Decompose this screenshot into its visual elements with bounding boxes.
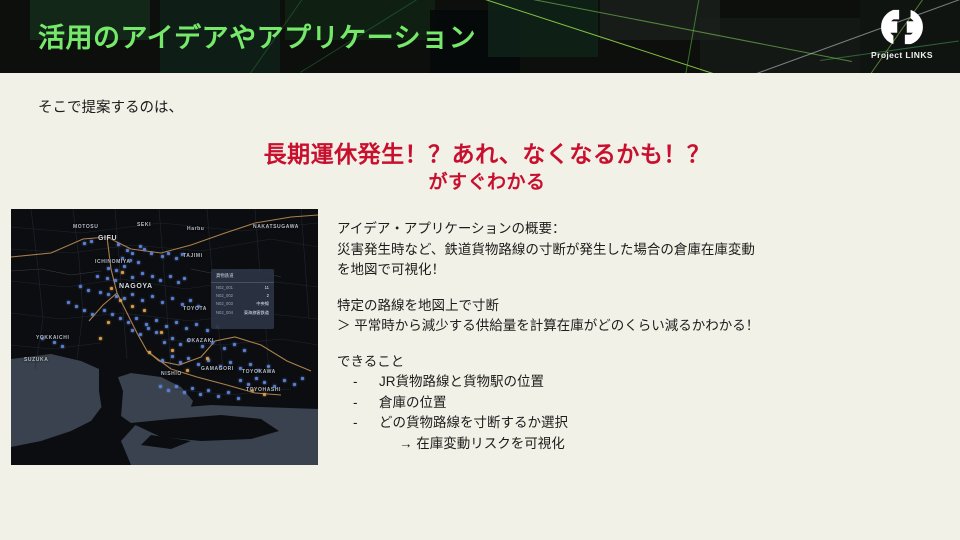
capability-text: どの貨物路線を寸断するか選択 — [379, 413, 568, 434]
map-warehouse-marker[interactable] — [139, 245, 142, 248]
map-tooltip-key: N02_001 — [216, 285, 233, 290]
map-city-label: NISHIO — [161, 371, 182, 377]
map-warehouse-marker[interactable] — [183, 391, 186, 394]
map-warehouse-marker[interactable] — [137, 261, 140, 264]
map-tooltip-row: N02_00111 — [211, 283, 274, 291]
map-warehouse-marker[interactable] — [177, 281, 180, 284]
map-city-label: MOTOSU — [73, 224, 98, 230]
capability-item: -どの貨物路線を寸断するか選択 — [337, 413, 937, 434]
map-warehouse-marker[interactable] — [53, 341, 56, 344]
map-warehouse-marker[interactable] — [169, 275, 172, 278]
map-city-label: TOYOTA — [183, 306, 207, 312]
map-freight-station-marker[interactable] — [99, 337, 102, 340]
map-city-label: TAJIMI — [183, 253, 203, 259]
map-warehouse-marker[interactable] — [90, 240, 93, 243]
map-city-label: OKAZAKI — [187, 338, 214, 344]
logo: Project LINKS — [860, 6, 944, 70]
map-warehouse-marker[interactable] — [247, 383, 250, 386]
map-warehouse-marker[interactable] — [119, 317, 122, 320]
map-warehouse-marker[interactable] — [123, 265, 126, 268]
map-warehouse-marker[interactable] — [249, 363, 252, 366]
map-freight-station-marker[interactable] — [263, 393, 266, 396]
map-freight-station-marker[interactable] — [119, 299, 122, 302]
map-warehouse-marker[interactable] — [135, 317, 138, 320]
map-warehouse-marker[interactable] — [131, 329, 134, 332]
header-rect-7 — [700, 18, 860, 73]
map-freight-station-marker[interactable] — [148, 351, 151, 354]
map-warehouse-marker[interactable] — [179, 361, 182, 364]
map-warehouse-marker[interactable] — [111, 313, 114, 316]
map-warehouse-marker[interactable] — [91, 313, 94, 316]
red-heading-line-1: 長期運休発生！？あれ、なくなるかも！？ — [0, 139, 960, 170]
overview-line-2: を地図で可視化！ — [337, 260, 937, 281]
map-city-label: NAKATSUGAWA — [253, 224, 299, 230]
map-tooltip-value: 2 — [267, 293, 269, 298]
map-tooltip-title: 貨物鉄道 — [211, 269, 274, 283]
map-warehouse-marker[interactable] — [227, 391, 230, 394]
bullet-dash: - — [353, 393, 379, 414]
map-warehouse-marker[interactable] — [107, 267, 110, 270]
map-warehouse-marker[interactable] — [131, 252, 134, 255]
map-tooltip-key: N02_002 — [216, 293, 233, 298]
map-warehouse-marker[interactable] — [61, 345, 64, 348]
map-city-label: Harbu — [187, 226, 204, 232]
map-warehouse-marker[interactable] — [301, 377, 304, 380]
map-warehouse-marker[interactable] — [83, 309, 86, 312]
map-city-label: GIFU — [98, 235, 117, 242]
capability-text: JR貨物路線と貨物駅の位置 — [379, 372, 544, 393]
map-tooltip-value: 中央線 — [256, 301, 269, 307]
map-tooltip-value: 11 — [265, 285, 269, 290]
map-warehouse-marker[interactable] — [115, 269, 118, 272]
map-city-label: TOYOKAWA — [242, 369, 276, 375]
map-city-label: NAGOYA — [119, 283, 153, 290]
map-warehouse-marker[interactable] — [103, 309, 106, 312]
page-title: 活用のアイデアやアプリケーション — [38, 16, 476, 55]
map-warehouse-marker[interactable] — [141, 299, 144, 302]
map-warehouse-marker[interactable] — [206, 329, 209, 332]
map-warehouse-marker[interactable] — [159, 279, 162, 282]
overview-label: アイデア・アプリケーションの概要： — [337, 219, 937, 240]
map-freight-station-marker[interactable] — [131, 305, 134, 308]
map-tooltip-panel[interactable]: 貨物鉄道 N02_00111N02_0022N02_003中央線N02_004東… — [211, 269, 274, 329]
capabilities-list: -JR貨物路線と貨物駅の位置-倉庫の位置-どの貨物路線を寸断するか選択 — [337, 372, 937, 434]
map-warehouse-marker[interactable] — [107, 293, 110, 296]
header-rect-6 — [600, 0, 720, 40]
slide-header: 活用のアイデアやアプリケーション Project LINKS — [0, 0, 960, 73]
map-warehouse-marker[interactable] — [199, 393, 202, 396]
map-warehouse-marker[interactable] — [99, 291, 102, 294]
text-gap-2 — [337, 337, 937, 352]
project-links-logo-icon — [879, 6, 925, 48]
map-city-label: ICHINOMIYA — [95, 259, 131, 265]
map-warehouse-marker[interactable] — [163, 341, 166, 344]
map-warehouse-marker[interactable] — [106, 277, 109, 280]
map-warehouse-marker[interactable] — [127, 321, 130, 324]
logo-text: Project LINKS — [860, 50, 944, 60]
map-warehouse-marker[interactable] — [167, 389, 170, 392]
map-warehouse-marker[interactable] — [123, 297, 126, 300]
feature-line-2: ＞ 平常時から減少する供給量を計算在庫がどのくらい減るかわかる！ — [337, 316, 937, 337]
text-gap-1 — [337, 281, 937, 296]
map-warehouse-marker[interactable] — [223, 347, 226, 350]
map-warehouse-marker[interactable] — [161, 301, 164, 304]
map-freight-station-marker[interactable] — [160, 331, 163, 334]
map-freight-station-marker[interactable] — [121, 271, 124, 274]
map-warehouse-marker[interactable] — [243, 349, 246, 352]
header-line-2 — [528, 0, 852, 62]
map-warehouse-marker[interactable] — [197, 363, 200, 366]
map-tooltip-row: N02_0022 — [211, 291, 274, 299]
map-warehouse-marker[interactable] — [165, 325, 168, 328]
map-warehouse-marker[interactable] — [267, 365, 270, 368]
map-freight-station-marker[interactable] — [110, 287, 113, 290]
map-warehouse-marker[interactable] — [229, 361, 232, 364]
map-warehouse-marker[interactable] — [115, 295, 118, 298]
body-text-block: アイデア・アプリケーションの概要： 災害発生時など、鉄道貨物路線の寸断が発生した… — [337, 219, 937, 454]
map-warehouse-marker[interactable] — [161, 255, 164, 258]
capability-text: 倉庫の位置 — [379, 393, 447, 414]
map-freight-station-marker[interactable] — [107, 321, 110, 324]
map-warehouse-marker[interactable] — [175, 257, 178, 260]
map-warehouse-marker[interactable] — [183, 277, 186, 280]
map-freight-station-marker[interactable] — [171, 349, 174, 352]
map-warehouse-marker[interactable] — [175, 385, 178, 388]
capabilities-label: できること — [337, 352, 937, 373]
map-tooltip-row: N02_004東海旅客鉄道 — [211, 308, 274, 317]
map-tooltip-value: 東海旅客鉄道 — [244, 310, 269, 316]
map-warehouse-marker[interactable] — [141, 272, 144, 275]
map-tooltip-key: N02_003 — [216, 301, 233, 307]
map-warehouse-marker[interactable] — [96, 275, 99, 278]
map-warehouse-marker[interactable] — [150, 252, 153, 255]
map-warehouse-marker[interactable] — [145, 323, 148, 326]
map-warehouse-marker[interactable] — [114, 279, 117, 282]
map-warehouse-marker[interactable] — [191, 387, 194, 390]
map-warehouse-marker[interactable] — [283, 379, 286, 382]
map-screenshot: MOTOSUSEKIHarbuNAKATSUGAWAGIFUTAJIMIICHI… — [11, 209, 318, 465]
map-warehouse-marker[interactable] — [263, 381, 266, 384]
map-warehouse-marker[interactable] — [131, 293, 134, 296]
map-warehouse-marker[interactable] — [217, 395, 220, 398]
map-warehouse-marker[interactable] — [189, 299, 192, 302]
map-warehouse-marker[interactable] — [155, 331, 158, 334]
map-warehouse-marker[interactable] — [207, 389, 210, 392]
map-warehouse-marker[interactable] — [239, 379, 242, 382]
map-warehouse-marker[interactable] — [179, 343, 182, 346]
map-city-label: YOKKAICHI — [36, 335, 69, 341]
header-rect-5 — [488, 0, 598, 57]
map-warehouse-marker[interactable] — [75, 305, 78, 308]
map-warehouse-marker[interactable] — [293, 383, 296, 386]
map-tooltip-row: N02_003中央線 — [211, 299, 274, 308]
slide-canvas: 活用のアイデアやアプリケーション Project LINKS そこで提案するのは… — [0, 0, 960, 540]
map-warehouse-marker[interactable] — [255, 377, 258, 380]
map-warehouse-marker[interactable] — [79, 285, 82, 288]
map-warehouse-marker[interactable] — [175, 321, 178, 324]
map-freight-station-marker[interactable] — [143, 309, 146, 312]
map-tooltip-key: N02_004 — [216, 310, 233, 316]
map-city-label: GAMAGORI — [201, 366, 234, 372]
map-warehouse-marker[interactable] — [131, 276, 134, 279]
map-warehouse-marker[interactable] — [151, 295, 154, 298]
map-warehouse-marker[interactable] — [67, 301, 70, 304]
map-tooltip-rows: N02_00111N02_0022N02_003中央線N02_004東海旅客鉄道 — [211, 283, 274, 317]
map-warehouse-marker[interactable] — [187, 357, 190, 360]
map-warehouse-marker[interactable] — [237, 397, 240, 400]
overview-line-1: 災害発生時など、鉄道貨物路線の寸断が発生した場合の倉庫在庫変動 — [337, 240, 937, 261]
map-warehouse-marker[interactable] — [171, 355, 174, 358]
map-warehouse-marker[interactable] — [233, 343, 236, 346]
map-warehouse-marker[interactable] — [87, 289, 90, 292]
map-warehouse-marker[interactable] — [126, 249, 129, 252]
map-warehouse-marker[interactable] — [167, 252, 170, 255]
map-warehouse-marker[interactable] — [171, 337, 174, 340]
bullet-dash: - — [353, 413, 379, 434]
map-warehouse-marker[interactable] — [151, 275, 154, 278]
red-heading: 長期運休発生！？あれ、なくなるかも！？ がすぐわかる — [0, 139, 960, 196]
capability-item: -倉庫の位置 — [337, 393, 937, 414]
map-warehouse-marker[interactable] — [139, 333, 142, 336]
lead-text: そこで提案するのは、 — [38, 96, 183, 117]
map-city-label: TOYOHASHI — [246, 387, 281, 393]
map-warehouse-marker[interactable] — [185, 327, 188, 330]
capability-item: -JR貨物路線と貨物駅の位置 — [337, 372, 937, 393]
capabilities-sub-item: → 在庫変動リスクを可視化 — [337, 434, 937, 455]
bullet-dash: - — [353, 372, 379, 393]
map-warehouse-marker[interactable] — [155, 319, 158, 322]
map-city-label: SUZUKA — [24, 357, 48, 363]
map-warehouse-marker[interactable] — [117, 243, 120, 246]
map-warehouse-marker[interactable] — [161, 359, 164, 362]
map-freight-station-marker[interactable] — [186, 369, 189, 372]
header-line-4 — [647, 0, 700, 73]
map-warehouse-marker[interactable] — [83, 242, 86, 245]
map-warehouse-marker[interactable] — [147, 327, 150, 330]
map-warehouse-marker[interactable] — [195, 323, 198, 326]
map-warehouse-marker[interactable] — [201, 345, 204, 348]
header-line-1 — [470, 0, 813, 73]
map-warehouse-marker[interactable] — [171, 297, 174, 300]
feature-line-1: 特定の路線を地図上で寸断 — [337, 296, 937, 317]
map-city-label: SEKI — [137, 222, 151, 228]
map-warehouse-marker[interactable] — [143, 248, 146, 251]
red-heading-line-2: がすぐわかる — [0, 170, 960, 196]
map-warehouse-marker[interactable] — [159, 385, 162, 388]
map-freight-station-marker[interactable] — [206, 357, 209, 360]
